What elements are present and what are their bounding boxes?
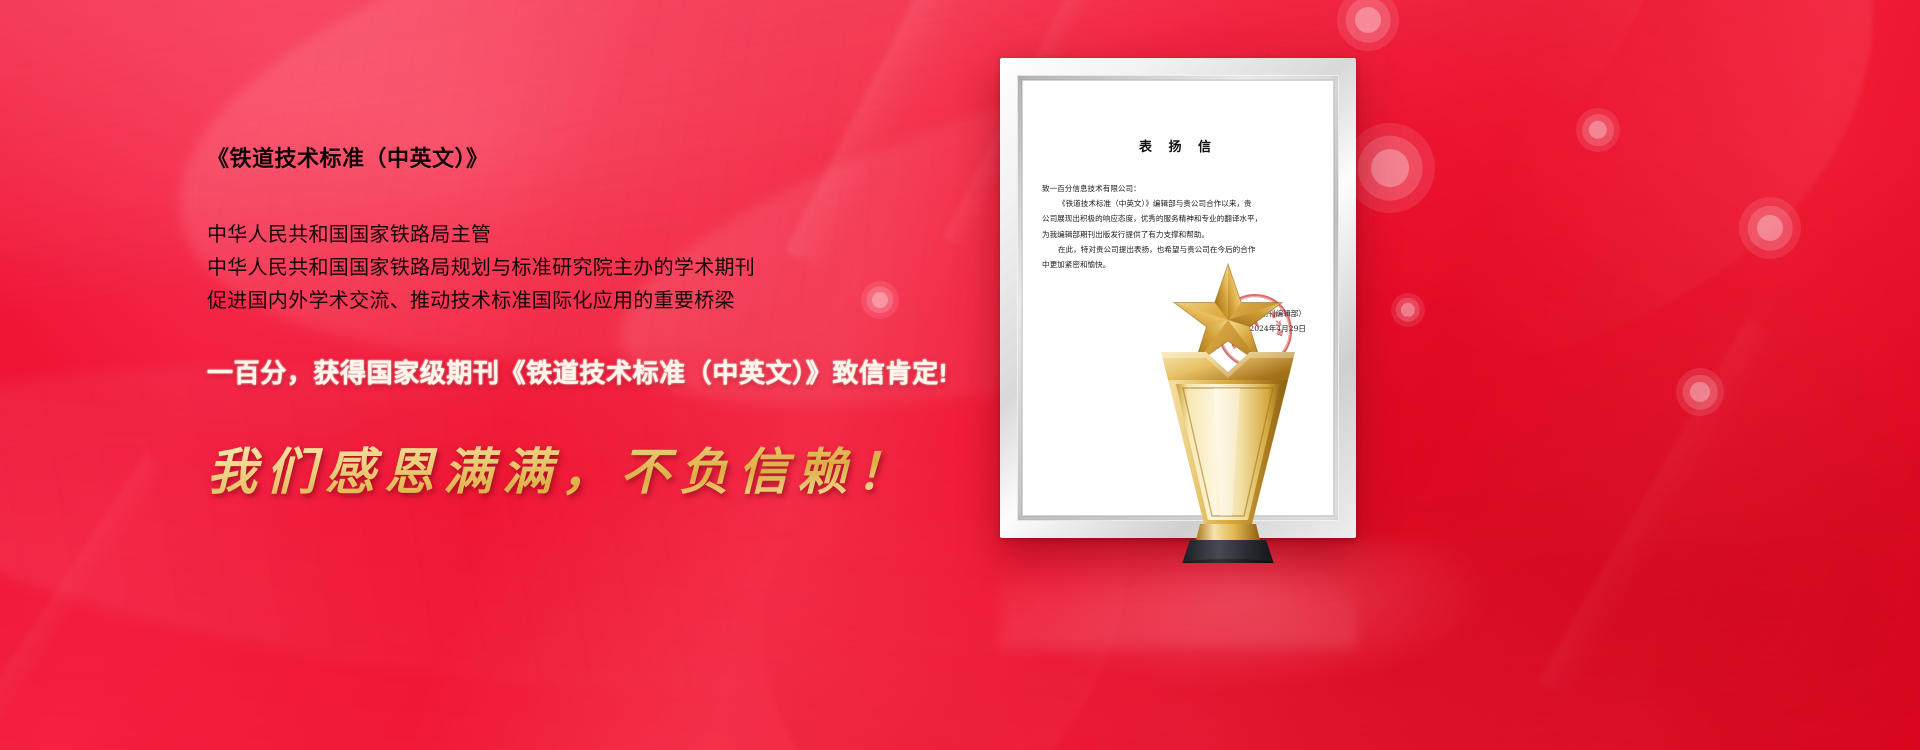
description-line: 促进国内外学术交流、推动技术标准国际化应用的重要桥梁 — [207, 285, 1047, 318]
calligraphy-slogan: 我们感恩满满，不负信赖！ — [207, 432, 1047, 504]
journal-description-lines: 中华人民共和国国家铁路局主管 中华人民共和国国家铁路局规划与标准研究院主办的学术… — [207, 219, 1047, 318]
certificate-paragraph: 公司展现出积极的响应态度，优秀的服务精神和专业的翻译水平， — [1042, 211, 1314, 226]
certificate-paragraph: 为我编辑部期刊出版发行提供了有力支撑和帮助。 — [1042, 227, 1314, 242]
certificate-title: 表 扬 信 — [1042, 136, 1314, 155]
copy-block: 《铁道技术标准（中英文）》 中华人民共和国国家铁路局主管 中华人民共和国国家铁路… — [207, 141, 1047, 504]
journal-title: 《铁道技术标准（中英文）》 — [207, 141, 1047, 173]
description-line: 中华人民共和国国家铁路局主管 — [207, 219, 1047, 252]
award-headline: 一百分，获得国家级期刊《铁道技术标准（中英文）》致信肯定! — [207, 353, 1047, 390]
certificate-salutation: 致一百分信息技术有限公司： — [1042, 181, 1314, 196]
star-trophy — [1128, 248, 1328, 563]
description-line: 中华人民共和国国家铁路局规划与标准研究院主办的学术期刊 — [207, 252, 1047, 285]
trophy-graphic — [1128, 248, 1328, 563]
certificate-paragraph: 《铁道技术标准（中英文）》编辑部与贵公司合作以来，贵 — [1042, 196, 1314, 211]
banner-stage: 《铁道技术标准（中英文）》 中华人民共和国国家铁路局主管 中华人民共和国国家铁路… — [0, 0, 1920, 750]
